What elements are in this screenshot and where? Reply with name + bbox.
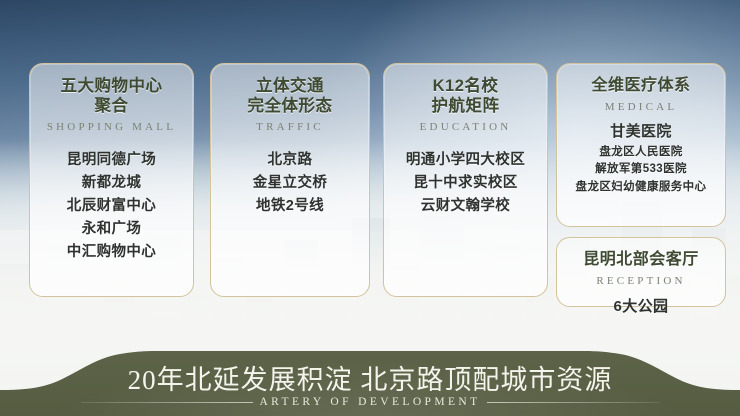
card-title-cn: 全维医疗体系	[563, 76, 719, 96]
card-item-list: 北京路 金星立交桥 地铁2号线	[217, 149, 363, 218]
banner-headline: 20年北延发展积淀 北京路顶配城市资源	[0, 358, 740, 397]
card-shopping-mall[interactable]: 五大购物中心聚合 SHOPPING MALL 昆明同德广场 新都龙城 北辰财富中…	[29, 63, 194, 297]
card-title-cn: 五大购物中心聚合	[36, 76, 187, 116]
card-title-cn: 立体交通完全体形态	[217, 76, 363, 116]
card-item-list: 甘美医院 盘龙区人民医院 解放军第533医院 盘龙区妇幼健康服务中心	[563, 121, 719, 196]
card-title-cn: K12名校护航矩阵	[390, 76, 541, 116]
card-title-cn: 昆明北部会客厅	[563, 250, 719, 270]
list-item: 昆明同德广场	[36, 149, 187, 172]
list-item: 新都龙城	[36, 172, 187, 195]
list-item: 金星立交桥	[217, 172, 363, 195]
card-item-list: 6大公园	[563, 295, 719, 319]
card-traffic[interactable]: 立体交通完全体形态 TRAFFIC 北京路 金星立交桥 地铁2号线	[210, 63, 370, 297]
list-item: 明通小学四大校区	[390, 149, 541, 172]
card-title-en: MEDICAL	[563, 101, 719, 113]
card-title-en: EDUCATION	[390, 121, 541, 133]
list-item: 地铁2号线	[217, 195, 363, 218]
card-item-list: 昆明同德广场 新都龙城 北辰财富中心 永和广场 中汇购物中心	[36, 149, 187, 264]
slide-canvas: 五大购物中心聚合 SHOPPING MALL 昆明同德广场 新都龙城 北辰财富中…	[0, 0, 740, 416]
list-item: 昆十中求实校区	[390, 172, 541, 195]
list-item: 盘龙区人民医院	[563, 144, 719, 161]
card-title-en: TRAFFIC	[217, 121, 363, 133]
card-medical[interactable]: 全维医疗体系 MEDICAL 甘美医院 盘龙区人民医院 解放军第533医院 盘龙…	[556, 63, 726, 227]
bottom-banner: 20年北延发展积淀 北京路顶配城市资源 ARTERY OF DEVELOPMEN…	[0, 350, 740, 416]
card-title-en: SHOPPING MALL	[36, 121, 187, 133]
card-education[interactable]: K12名校护航矩阵 EDUCATION 明通小学四大校区 昆十中求实校区 云财文…	[383, 63, 548, 297]
list-item: 解放军第533医院	[563, 161, 719, 178]
card-item-list: 明通小学四大校区 昆十中求实校区 云财文翰学校	[390, 149, 541, 218]
banner-rule-left	[81, 402, 253, 403]
list-item-primary: 甘美医院	[563, 121, 719, 144]
banner-subline: ARTERY OF DEVELOPMENT	[0, 393, 740, 411]
banner-subtitle: ARTERY OF DEVELOPMENT	[259, 396, 480, 408]
card-reception[interactable]: 昆明北部会客厅 RECEPTION 6大公园	[556, 237, 726, 307]
list-item: 云财文翰学校	[390, 195, 541, 218]
list-item: 中汇购物中心	[36, 241, 187, 264]
list-item: 6大公园	[563, 295, 719, 319]
list-item: 盘龙区妇幼健康服务中心	[563, 179, 719, 196]
list-item: 北辰财富中心	[36, 195, 187, 218]
list-item: 北京路	[217, 149, 363, 172]
list-item: 永和广场	[36, 218, 187, 241]
banner-rule-right	[487, 402, 659, 403]
card-title-en: RECEPTION	[563, 275, 719, 287]
